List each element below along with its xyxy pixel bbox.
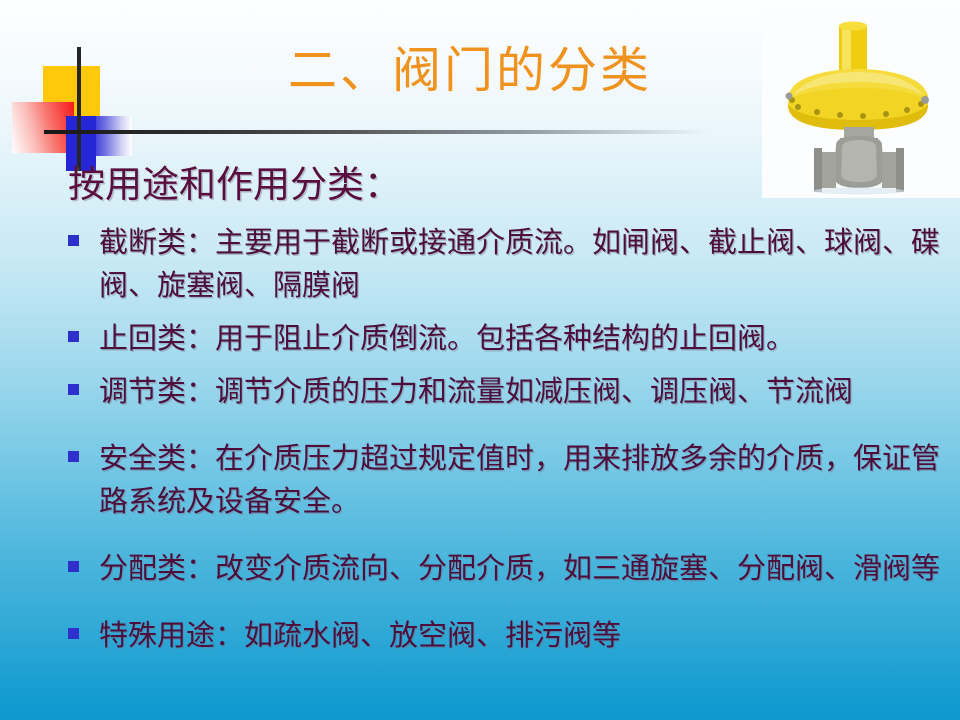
square-bullet-icon — [68, 384, 79, 395]
list-item: 安全类：在介质压力超过规定值时，用来排放多余的介质，保证管路系统及设备安全。 — [68, 438, 940, 524]
list-item: 调节类：调节介质的压力和流量如减压阀、调压阀、节流阀 — [68, 371, 940, 414]
list-item-text: 调节类：调节介质的压力和流量如减压阀、调压阀、节流阀 — [99, 371, 940, 414]
list-item-text: 止回类：用于阻止介质倒流。包括各种结构的止回阀。 — [99, 318, 940, 361]
decoration-red-gradient-square — [12, 102, 74, 153]
list-item-text: 特殊用途：如疏水阀、放空阀、排污阀等 — [99, 615, 940, 658]
decoration-vertical-rule — [77, 47, 81, 171]
list-item: 特殊用途：如疏水阀、放空阀、排污阀等 — [68, 615, 940, 658]
presentation-slide: 二、阀门的分类 — [0, 0, 960, 720]
list-item: 截断类：主要用于截断或接通介质流。如闸阀、截止阀、球阀、碟阀、旋塞阀、隔膜阀 — [68, 222, 940, 308]
square-bullet-icon — [68, 628, 79, 639]
decoration-horizontal-rule — [44, 130, 706, 134]
list-item-text: 分配类：改变介质流向、分配介质，如三通旋塞、分配阀、滑阀等 — [99, 548, 940, 591]
valve-photo — [762, 12, 960, 198]
slide-title: 二、阀门的分类 — [190, 40, 750, 102]
square-bullet-icon — [68, 561, 79, 572]
list-item: 止回类：用于阻止介质倒流。包括各种结构的止回阀。 — [68, 318, 940, 361]
square-bullet-icon — [68, 331, 79, 342]
square-bullet-icon — [68, 451, 79, 462]
list-item-text: 截断类：主要用于截断或接通介质流。如闸阀、截止阀、球阀、碟阀、旋塞阀、隔膜阀 — [99, 222, 940, 308]
square-bullet-icon — [68, 235, 79, 246]
bullet-list: 截断类：主要用于截断或接通介质流。如闸阀、截止阀、球阀、碟阀、旋塞阀、隔膜阀 止… — [68, 222, 940, 668]
section-subtitle: 按用途和作用分类： — [68, 163, 401, 209]
list-item: 分配类：改变介质流向、分配介质，如三通旋塞、分配阀、滑阀等 — [68, 548, 940, 591]
list-item-text: 安全类：在介质压力超过规定值时，用来排放多余的介质，保证管路系统及设备安全。 — [99, 438, 940, 524]
